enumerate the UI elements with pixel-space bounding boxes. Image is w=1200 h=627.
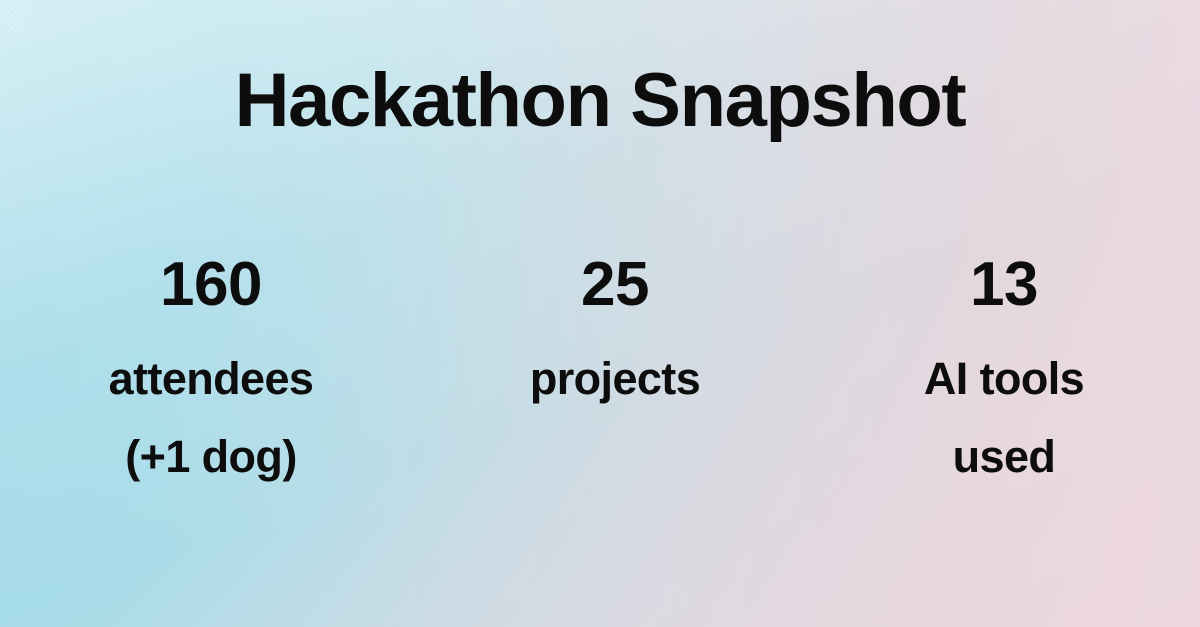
- hackathon-snapshot-poster: Hackathon Snapshot 160 attendees (+1 dog…: [0, 0, 1200, 627]
- stat-value-attendees: 160: [46, 252, 376, 318]
- stat-label-line: projects: [465, 340, 765, 418]
- stat-label-line: used: [854, 418, 1154, 496]
- stat-label-line: attendees: [46, 340, 376, 418]
- stat-label-attendees: attendees (+1 dog): [46, 340, 376, 496]
- stat-label-projects: projects: [465, 340, 765, 418]
- stat-ai-tools: 13 AI tools used: [854, 252, 1154, 496]
- pixel-dust-watermark-icon: [3, 3, 35, 47]
- stat-label-ai-tools: AI tools used: [854, 340, 1154, 496]
- stat-projects: 25 projects: [465, 252, 765, 418]
- stat-value-projects: 25: [465, 252, 765, 318]
- page-title: Hackathon Snapshot: [0, 59, 1200, 143]
- stats-row: 160 attendees (+1 dog) 25 projects 13 AI…: [0, 252, 1200, 496]
- stat-label-line: (+1 dog): [46, 418, 376, 496]
- stat-attendees: 160 attendees (+1 dog): [46, 252, 376, 496]
- stat-value-ai-tools: 13: [854, 252, 1154, 318]
- stat-label-line: AI tools: [854, 340, 1154, 418]
